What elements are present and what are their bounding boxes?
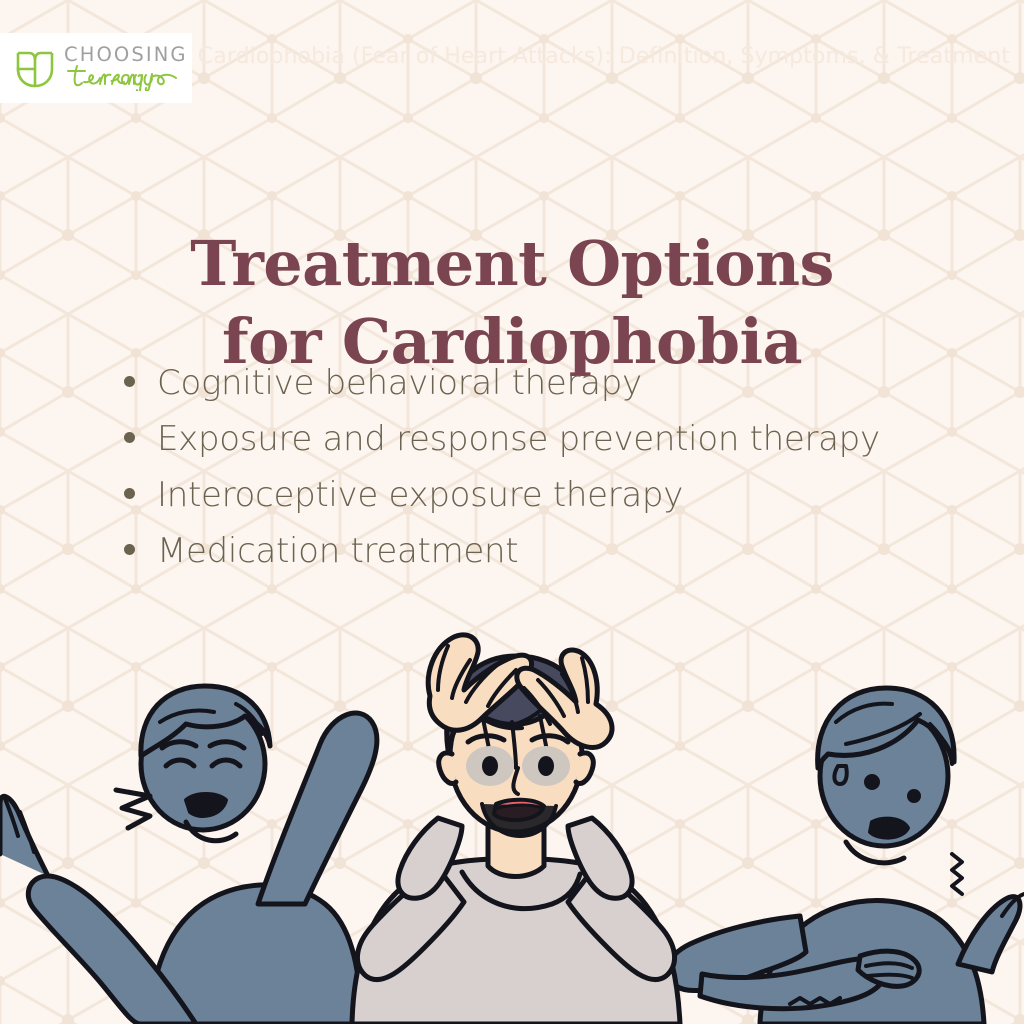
logo-choosing-text: CHOOSING [64,45,188,65]
left-figure-hands-raised [0,686,377,1024]
list-item: Exposure and response prevention therapy [124,419,880,475]
page-title: Treatment Options for Cardiophobia [0,225,1024,381]
list-item: Interoceptive exposure therapy [124,475,880,531]
list-item-label: Interoceptive exposure therapy [157,475,683,515]
center-figure-hands-on-head [352,635,680,1024]
bullet-dot-icon [124,488,135,499]
brand-logo[interactable]: CHOOSING [0,33,192,103]
infographic-canvas: Cardiophobia (Fear of Heart Attacks): De… [0,0,1024,1024]
page-title-line-1: Treatment Options [0,225,1024,303]
bullet-dot-icon [124,432,135,443]
treatment-options-list: Cognitive behavioral therapy Exposure an… [124,363,880,587]
list-item-label: Cognitive behavioral therapy [157,363,642,403]
leaf-logo-icon [12,45,58,91]
bullet-dot-icon [124,376,135,387]
right-figure-clutching-chest [667,688,1024,1024]
list-item-label: Exposure and response prevention therapy [157,419,880,459]
list-item: Cognitive behavioral therapy [124,363,880,419]
list-item: Medication treatment [124,531,880,587]
bullet-dot-icon [124,544,135,555]
three-anxious-people-illustration [0,604,1024,1024]
logo-wordmark: CHOOSING [64,45,188,92]
list-item-label: Medication treatment [157,531,518,571]
logo-therapy-script [64,65,182,91]
